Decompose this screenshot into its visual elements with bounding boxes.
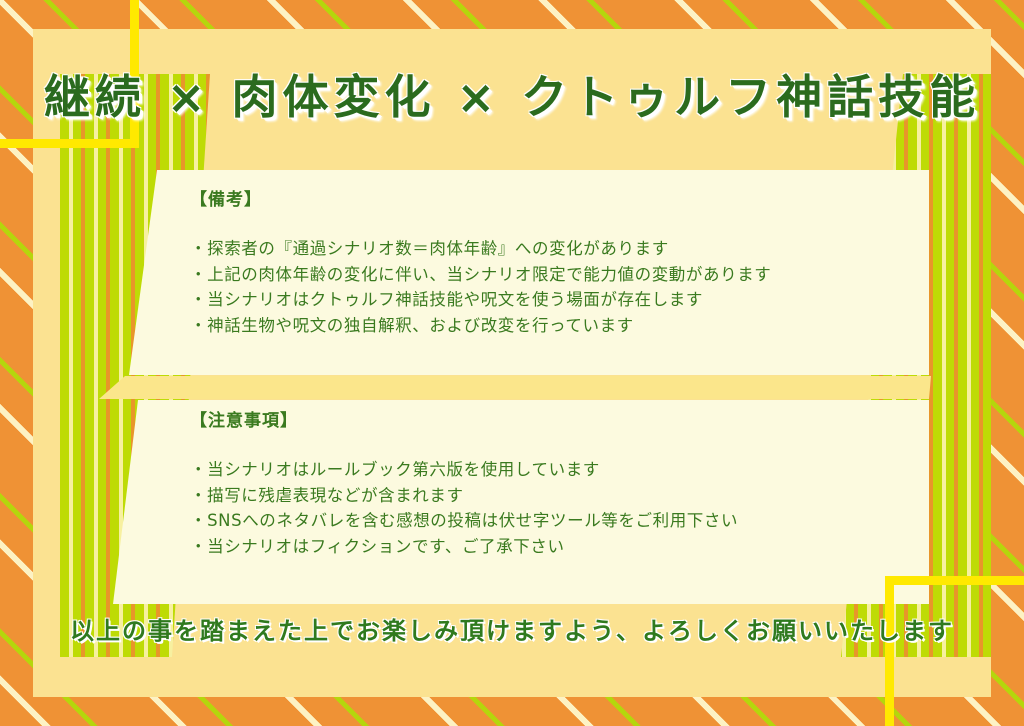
list-item: ・当シナリオはルールブック第六版を使用しています	[190, 457, 738, 483]
main-card	[33, 29, 991, 697]
panel-divider-band	[99, 376, 931, 399]
list-item: ・当シナリオはフィクションです、ご了承下さい	[190, 534, 738, 560]
section-notes-list: ・探索者の『通過シナリオ数＝肉体年齢』への変化があります ・上記の肉体年齢の変化…	[190, 236, 771, 339]
list-item: ・神話生物や呪文の独自解釈、および改変を行っています	[190, 313, 771, 339]
list-item: ・描写に残虐表現などが含まれます	[190, 483, 738, 509]
corner-bracket-top-left-horizontal	[0, 139, 139, 148]
poster-canvas: 継続 × 肉体変化 × クトゥルフ神話技能 【備考】 ・探索者の『通過シナリオ数…	[0, 0, 1024, 726]
section-caution-heading: 【注意事項】	[190, 406, 738, 431]
poster-title: 継続 × 肉体変化 × クトゥルフ神話技能	[0, 61, 1024, 127]
section-caution: 【注意事項】 ・当シナリオはルールブック第六版を使用しています ・描写に残虐表現…	[190, 406, 738, 560]
section-caution-list: ・当シナリオはルールブック第六版を使用しています ・描写に残虐表現などが含まれま…	[190, 457, 738, 560]
corner-bracket-bottom-right-vertical	[885, 576, 894, 726]
list-item: ・探索者の『通過シナリオ数＝肉体年齢』への変化があります	[190, 236, 771, 262]
list-item: ・当シナリオはクトゥルフ神話技能や呪文を使う場面が存在します	[190, 287, 771, 313]
section-notes-heading: 【備考】	[190, 185, 771, 210]
list-item: ・SNSへのネタバレを含む感想の投稿は伏せ字ツール等をご利用下さい	[190, 508, 738, 534]
section-notes: 【備考】 ・探索者の『通過シナリオ数＝肉体年齢』への変化があります ・上記の肉体…	[190, 185, 771, 339]
poster-footer-message: 以上の事を踏まえた上でお楽しみ頂けますよう、よろしくお願いいたします	[0, 611, 1024, 646]
list-item: ・上記の肉体年齢の変化に伴い、当シナリオ限定で能力値の変動があります	[190, 262, 771, 288]
corner-bracket-bottom-right-horizontal	[885, 576, 1024, 585]
